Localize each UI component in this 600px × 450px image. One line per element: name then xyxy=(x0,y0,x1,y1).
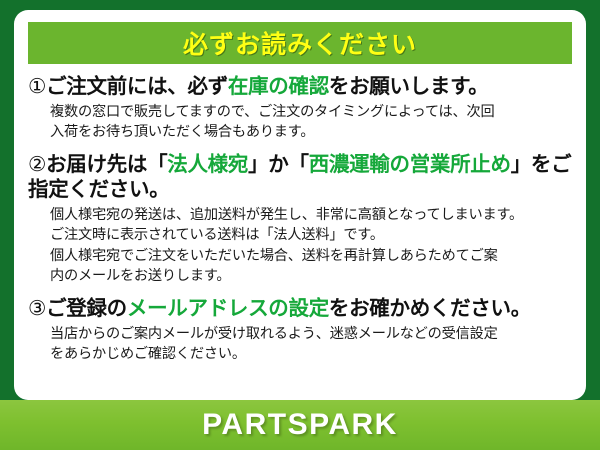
notice-item-1-body: 複数の窓口で販売してますので、ご注文のタイミングによっては、次回 入荷をお待ち頂… xyxy=(50,102,572,142)
notice-item-3-body-line-2: をあらかじめご確認ください。 xyxy=(50,344,572,364)
notice-item-2-body-line-4: 内のメールをお送りします。 xyxy=(50,266,572,286)
notice-item-2-body-line-3: 個人様宅宛でご注文をいただいた場合、送料を再計算しあらためてご案 xyxy=(50,246,572,266)
brand-logo: PARTSPARK xyxy=(202,408,398,442)
notice-item-2-heading: ②お届け先は「法人様宛」か「西濃運輸の営業所止め」をご指定ください。 xyxy=(28,152,572,202)
notice-item-1-body-line-2: 入荷をお待ち頂いただく場合もあります。 xyxy=(50,122,572,142)
notice-item-1-heading-part-1: ご注文前には、必ず xyxy=(46,75,228,98)
notice-title: 必ずお読みください xyxy=(183,25,417,61)
notice-item-1-body-line-1: 複数の窓口で販売してますので、ご注文のタイミングによっては、次回 xyxy=(50,102,572,122)
notice-item-2-body-line-2: ご注文時に表示されている送料は「法人送料」です。 xyxy=(50,225,572,245)
notice-item-3-heading-highlight: メールアドレスの設定 xyxy=(127,297,329,320)
notice-item-2: ②お届け先は「法人様宛」か「西濃運輸の営業所止め」をご指定ください。 個人様宅宛… xyxy=(28,152,572,286)
notice-item-2-heading-highlight-2: 西濃運輸の営業所止め xyxy=(309,153,511,176)
notice-card: 必ずお読みください ①ご注文前には、必ず在庫の確認をお願いします。 複数の窓口で… xyxy=(14,10,586,400)
notice-item-2-body-line-1: 個人様宅宛の発送は、追加送料が発生し、非常に高額となってしまいます。 xyxy=(50,205,572,225)
notice-item-3-heading: ③ご登録のメールアドレスの設定をお確かめください。 xyxy=(28,296,572,321)
notice-item-2-body: 個人様宅宛の発送は、追加送料が発生し、非常に高額となってしまいます。 ご注文時に… xyxy=(50,205,572,286)
notice-item-2-heading-part-5: 」 xyxy=(511,153,531,176)
notice-item-3: ③ご登録のメールアドレスの設定をお確かめください。 当店からのご案内メールが受け… xyxy=(28,296,572,364)
notice-item-1: ①ご注文前には、必ず在庫の確認をお願いします。 複数の窓口で販売してますので、ご… xyxy=(28,74,572,142)
notice-item-3-heading-part-1: ご登録の xyxy=(46,297,127,320)
notice-item-3-heading-part-3: をお確かめください。 xyxy=(329,297,531,320)
notice-item-3-body-line-1: 当店からのご案内メールが受け取れるよう、迷惑メールなどの受信設定 xyxy=(50,324,572,344)
notice-title-bar: 必ずお読みください xyxy=(28,22,572,64)
notice-item-1-heading-part-3: をお願いします。 xyxy=(329,75,489,98)
notice-item-1-number: ① xyxy=(28,75,46,98)
notice-item-2-heading-highlight-1: 法人様宛 xyxy=(167,153,248,176)
footer-logo-strip: PARTSPARK xyxy=(0,400,600,450)
notice-banner: 必ずお読みください ①ご注文前には、必ず在庫の確認をお願いします。 複数の窓口で… xyxy=(0,0,600,450)
notice-item-2-heading-part-3: 」か「 xyxy=(248,153,309,176)
notice-item-1-heading-highlight: 在庫の確認 xyxy=(228,75,329,98)
notice-item-3-number: ③ xyxy=(28,297,46,320)
notice-item-2-heading-part-1: お届け先は「 xyxy=(46,153,167,176)
notice-item-3-body: 当店からのご案内メールが受け取れるよう、迷惑メールなどの受信設定 をあらかじめご… xyxy=(50,324,572,364)
notice-item-2-number: ② xyxy=(28,153,46,176)
notice-item-1-heading: ①ご注文前には、必ず在庫の確認をお願いします。 xyxy=(28,74,572,99)
